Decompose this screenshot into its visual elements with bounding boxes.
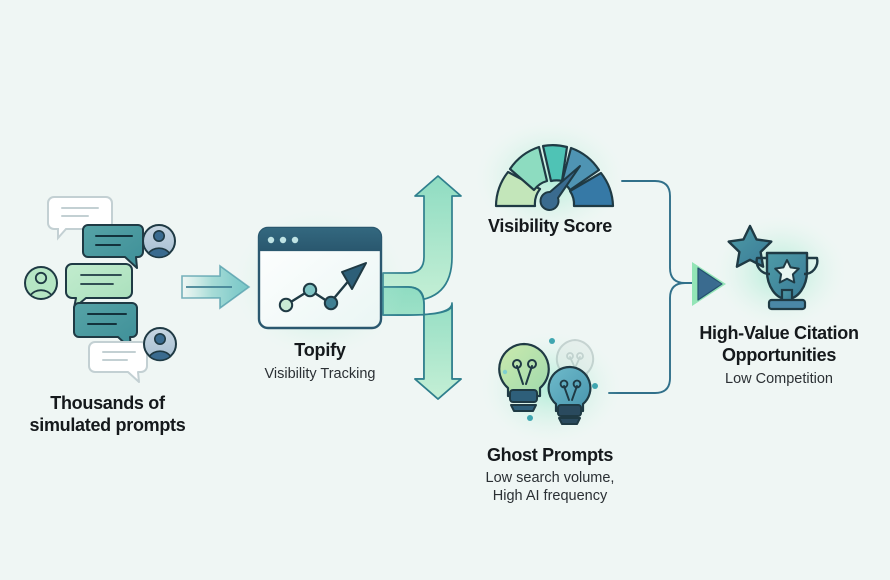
avatar-blue-lower xyxy=(144,328,176,360)
topify-title: Topify xyxy=(230,340,410,362)
ghost-prompts-title: Ghost Prompts xyxy=(440,444,660,466)
ghost-prompts-label: Ghost Prompts Low search volume, High AI… xyxy=(440,444,660,506)
ghost-prompts-subtitle-line1: Low search volume, xyxy=(440,469,660,487)
window-dot-2 xyxy=(280,237,286,243)
topify-subtitle: Visibility Tracking xyxy=(230,365,410,383)
thousands-of-simulated-prompts-icon xyxy=(25,197,176,382)
avatar-blue-upper xyxy=(143,225,175,257)
window-dot-3 xyxy=(292,237,298,243)
browser-window-growth-chart-icon xyxy=(259,228,381,328)
high-value-citation-opportunities-node[interactable] xyxy=(714,216,846,328)
visibility-score-title: Visibility Score xyxy=(455,215,645,237)
chat-bubble-teal-upper xyxy=(83,225,143,268)
input-title-line1: Thousands of xyxy=(0,392,220,414)
sparkle-dot-2 xyxy=(592,383,598,389)
input-title-line2: simulated prompts xyxy=(0,414,220,436)
output-title-line1: High-Value Citation xyxy=(665,322,890,344)
topify-label: Topify Visibility Tracking xyxy=(230,340,410,383)
avatar-green-left xyxy=(25,267,57,299)
ghost-prompts-node[interactable] xyxy=(481,332,621,444)
sparkle-dot-4 xyxy=(503,370,507,374)
output-label: High-Value Citation Opportunities Low Co… xyxy=(665,322,890,388)
input-label: Thousands of simulated prompts xyxy=(0,392,220,437)
ghost-prompts-subtitle-line2: High AI frequency xyxy=(440,487,660,505)
output-subtitle: Low Competition xyxy=(665,370,890,388)
sparkle-dot-3 xyxy=(527,415,533,421)
output-title-line2: Opportunities xyxy=(665,344,890,366)
diagram-canvas: Thousands of simulated prompts Topify Vi… xyxy=(0,0,890,580)
topify-node[interactable] xyxy=(234,209,406,357)
chat-bubble-outline-bottom xyxy=(89,342,147,382)
sparkle-dot-1 xyxy=(549,338,555,344)
window-dot-1 xyxy=(268,237,274,243)
chat-bubble-green-middle xyxy=(66,264,132,308)
visibility-score-label: Visibility Score xyxy=(455,215,645,237)
